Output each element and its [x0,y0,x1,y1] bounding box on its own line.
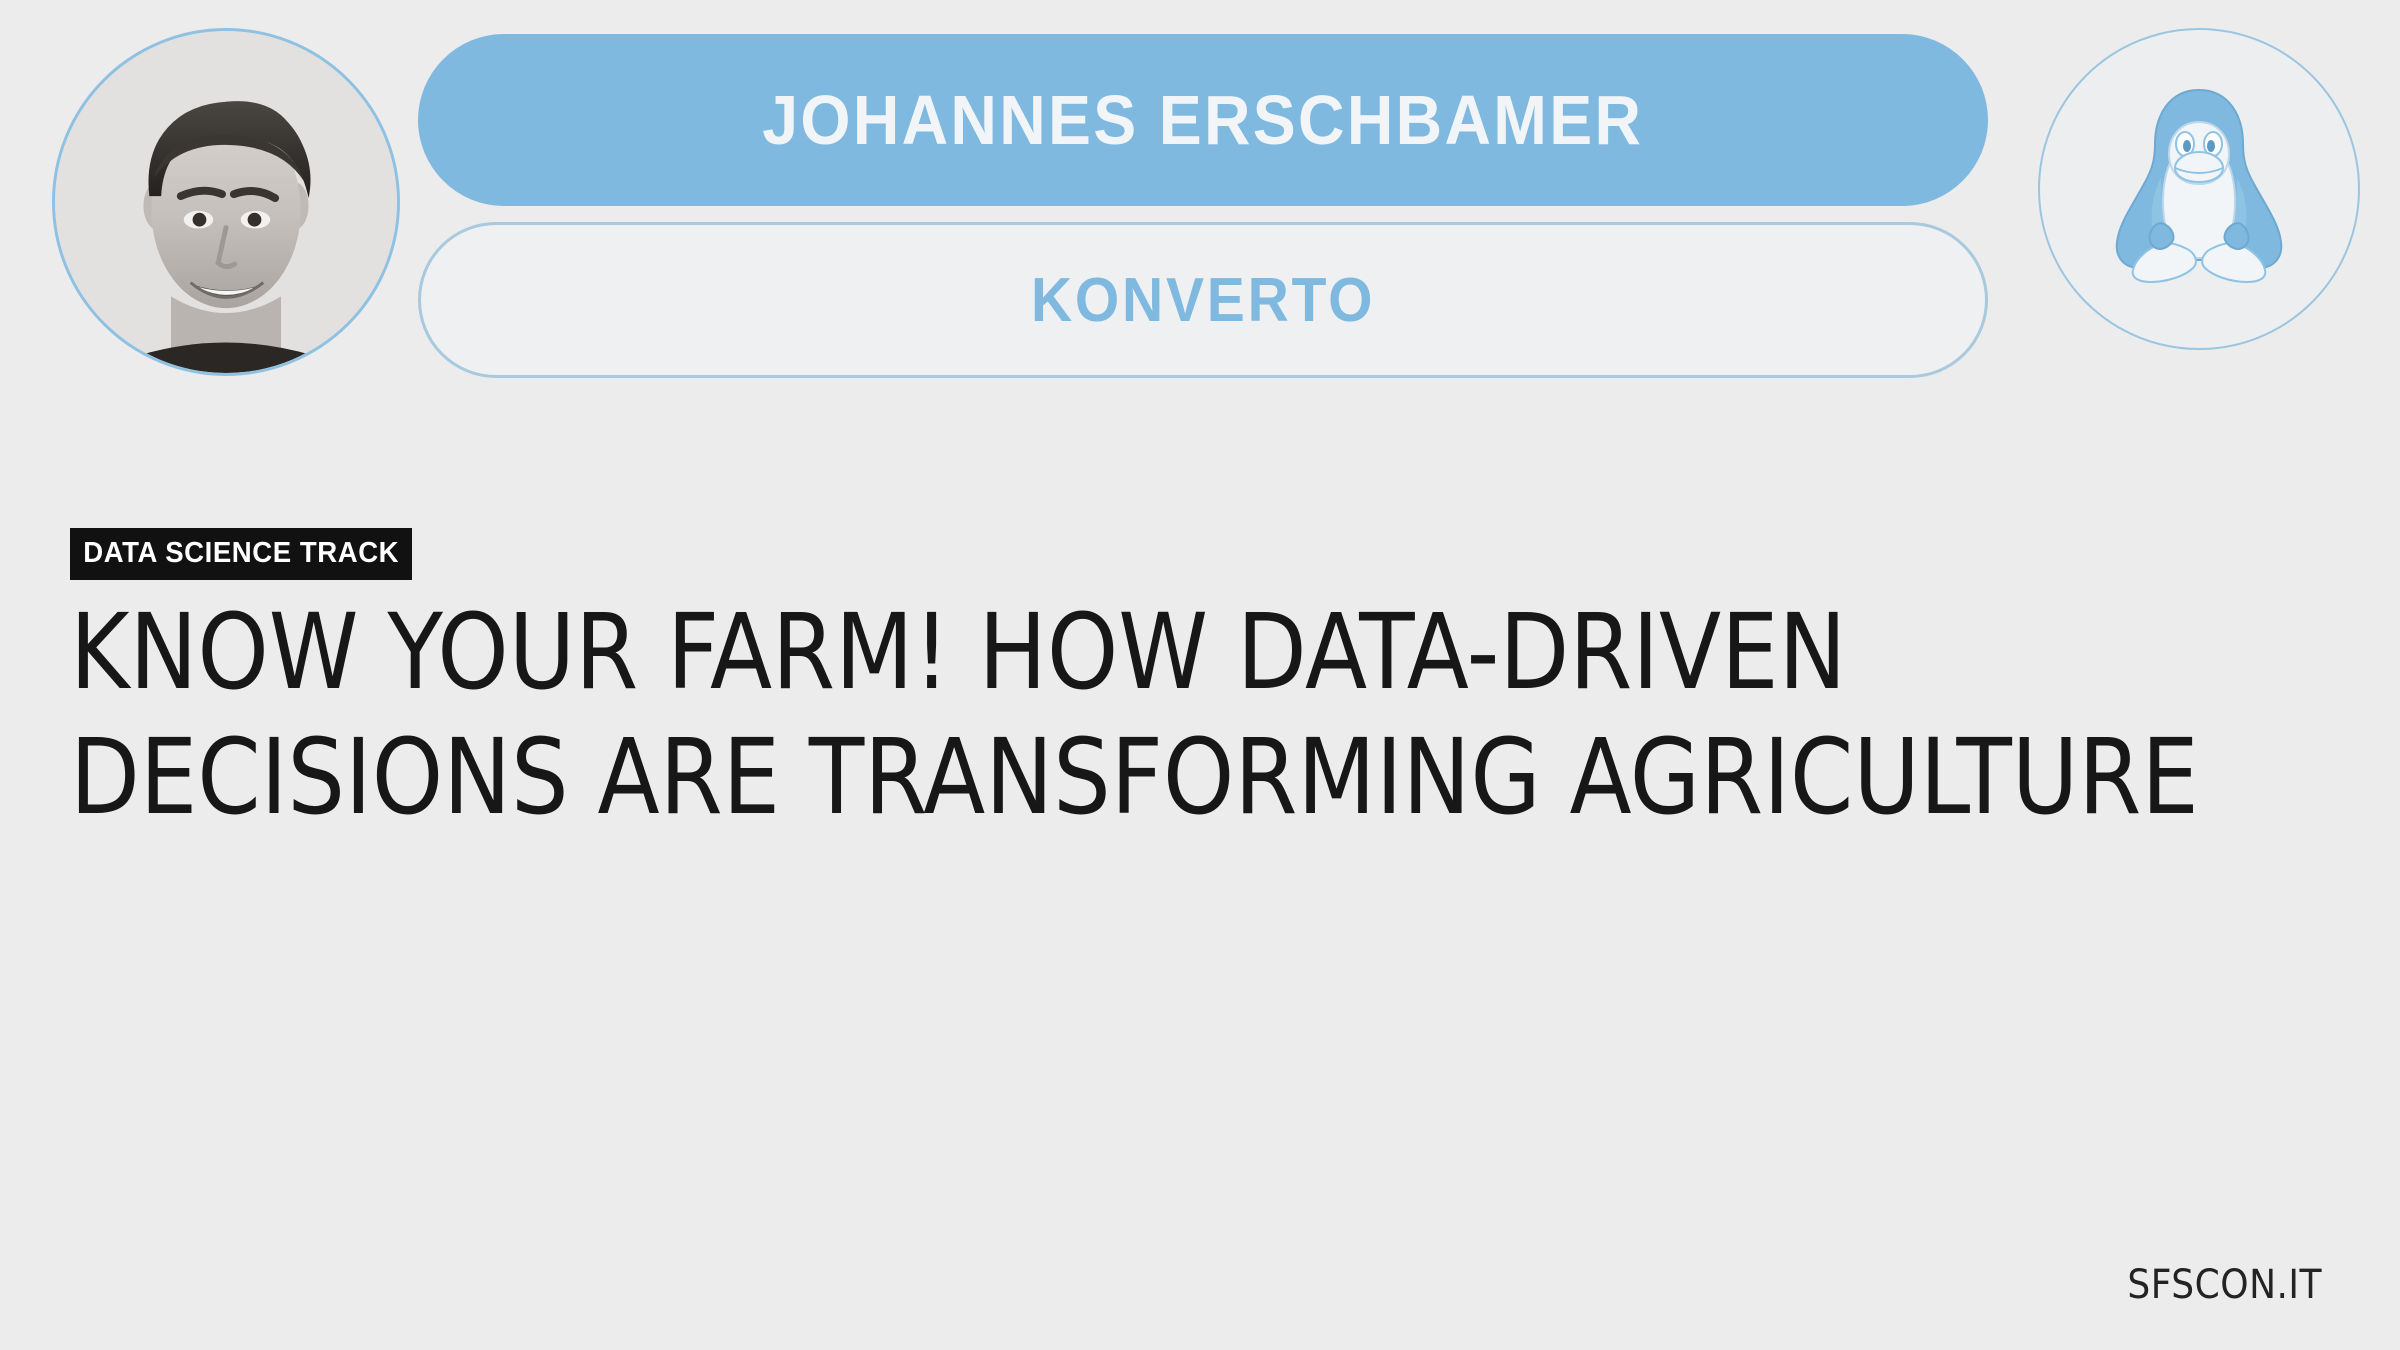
speaker-company-pill: KONVERTO [418,222,1988,378]
speaker-header: JOHANNES ERSCHBAMER KONVERTO [0,0,2400,410]
avatar [52,28,400,376]
speaker-company: KONVERTO [1031,265,1375,336]
speaker-name-pill: JOHANNES ERSCHBAMER [418,34,1988,206]
speaker-name: JOHANNES ERSCHBAMER [762,80,1643,160]
linux-logo-badge [2038,28,2360,350]
conference-url: SFSCON.IT [2127,1262,2322,1308]
talk-block: DATA SCIENCE TRACK KNOW YOUR FARM! HOW D… [70,528,2320,840]
speaker-pill-stack: JOHANNES ERSCHBAMER KONVERTO [418,34,1988,374]
talk-title: KNOW YOUR FARM! HOW DATA-DRIVEN DECISION… [70,590,2204,840]
tux-penguin-icon [2099,82,2299,297]
speaker-portrait-icon [55,31,397,373]
track-badge: DATA SCIENCE TRACK [70,528,412,580]
